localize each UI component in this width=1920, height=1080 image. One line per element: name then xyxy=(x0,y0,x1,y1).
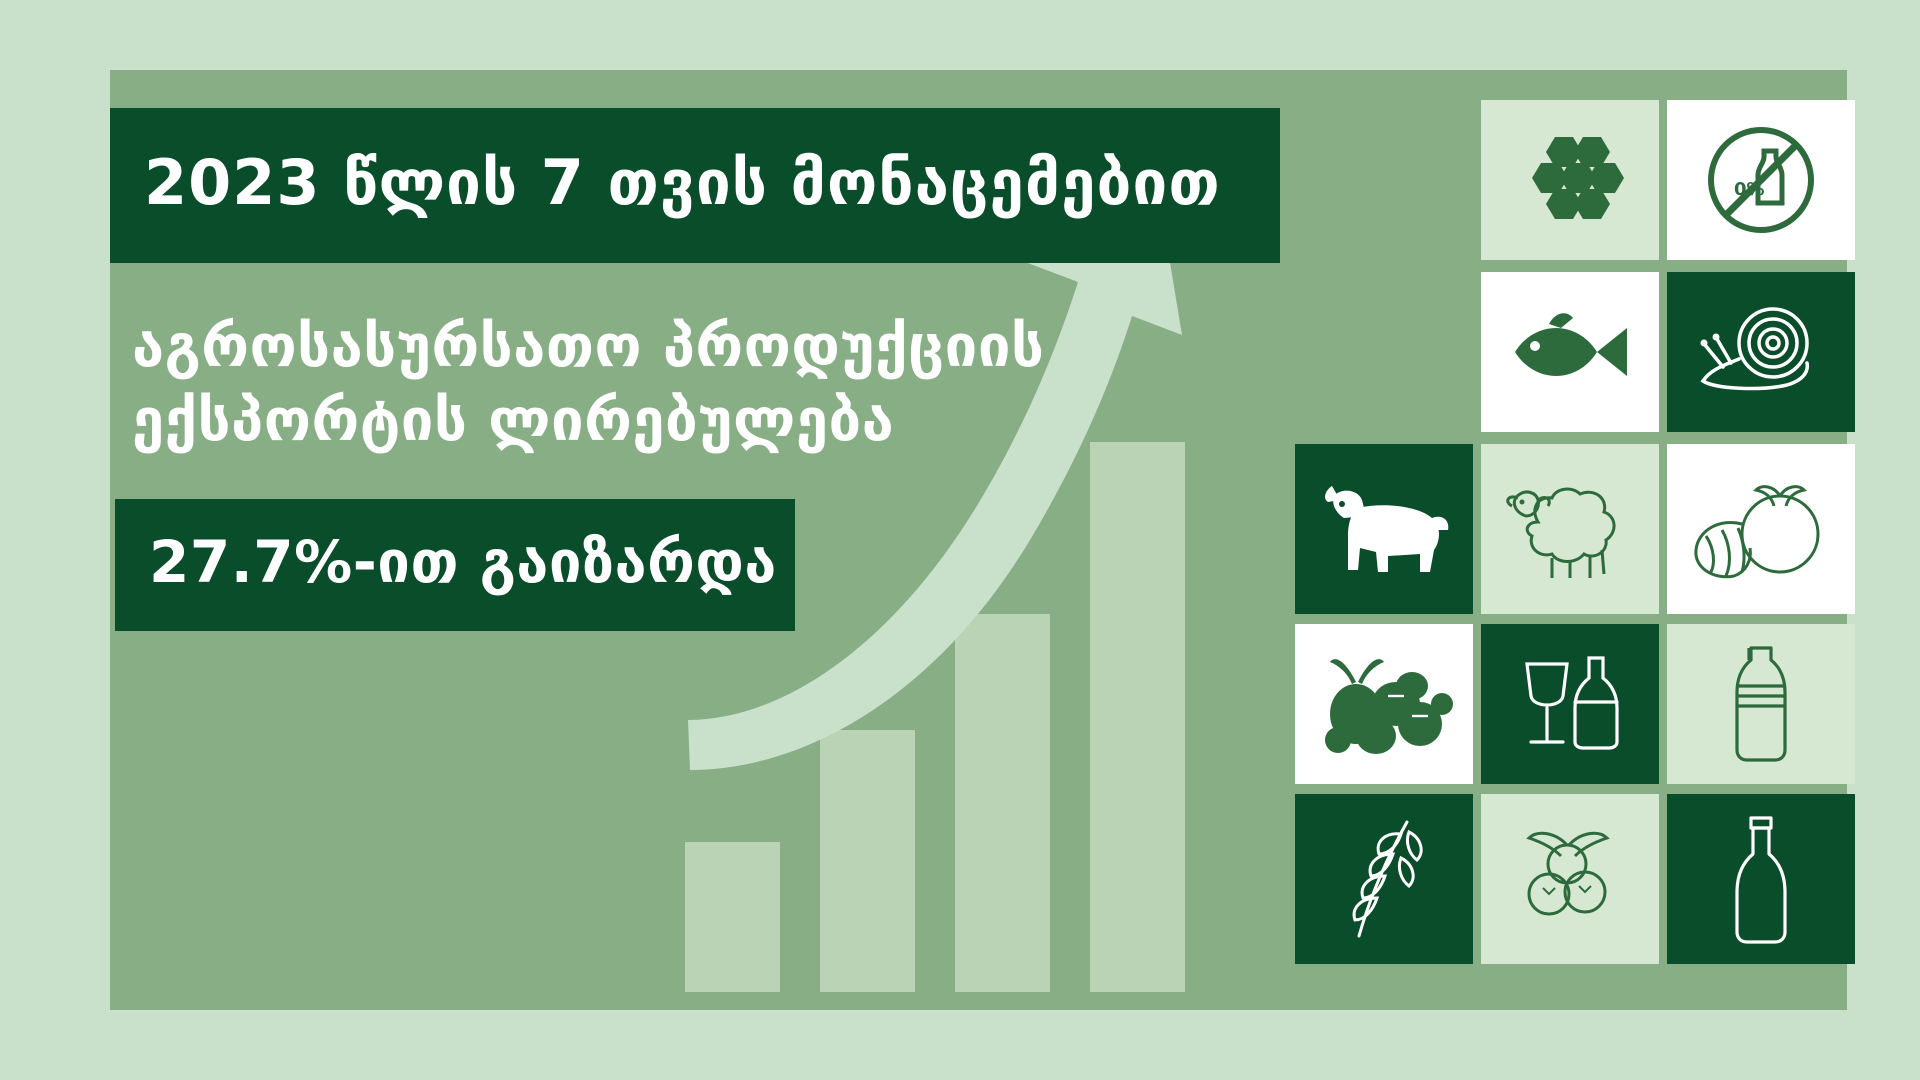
title-banner: 2023 წლის 7 თვის მონაცემებით xyxy=(110,108,1280,263)
tile-wine xyxy=(1481,624,1659,784)
tile-herbs xyxy=(1295,794,1473,964)
honeycomb-icon xyxy=(1515,125,1625,235)
cow-icon xyxy=(1314,474,1454,584)
highlight-text: 27.7%-ით გაიზარდა xyxy=(149,528,777,596)
sheep-icon xyxy=(1500,472,1640,587)
tile-sheep xyxy=(1481,444,1659,614)
subtitle-line-1: აგროსასურსათო პროდუქციის xyxy=(132,309,1290,383)
product-icon-grid: 0% xyxy=(1295,100,1855,1000)
berries-icon xyxy=(1505,824,1635,934)
no-alcohol-icon: 0% xyxy=(1702,121,1820,239)
highlight-banner: 27.7%-ით გაიზარდა xyxy=(115,499,795,631)
fish-icon xyxy=(1505,302,1635,402)
snail-icon xyxy=(1691,297,1831,407)
svg-text:0%: 0% xyxy=(1734,179,1765,200)
tile-berries xyxy=(1481,794,1659,964)
herbs-icon xyxy=(1329,814,1439,944)
infographic-canvas: 2023 წლის 7 თვის მონაცემებით აგროსასურსა… xyxy=(0,0,1920,1080)
subtitle-line-2: ექსპორტის ლირებულება xyxy=(132,383,1290,457)
fruits-icon xyxy=(1314,652,1454,757)
tile-vegetables xyxy=(1667,444,1855,614)
tile-water-bottle xyxy=(1667,624,1855,784)
tile-no-alcohol: 0% xyxy=(1667,100,1855,260)
vegetables-icon xyxy=(1686,472,1836,587)
tile-honeycomb xyxy=(1481,100,1659,260)
water-bottle-icon xyxy=(1721,642,1801,767)
text-block: 2023 წლის 7 თვის მონაცემებით აგროსასურსა… xyxy=(110,108,1290,631)
tile-cow xyxy=(1295,444,1473,614)
tile-oil-bottle xyxy=(1667,794,1855,964)
subtitle: აგროსასურსათო პროდუქციის ექსპორტის ლირებ… xyxy=(132,309,1290,457)
oil-bottle-icon xyxy=(1721,812,1801,947)
tile-fish xyxy=(1481,272,1659,432)
tile-snail xyxy=(1667,272,1855,432)
tile-fruits xyxy=(1295,624,1473,784)
page-title: 2023 წლის 7 თვის მონაცემებით xyxy=(144,152,1221,214)
wine-icon xyxy=(1505,644,1635,764)
